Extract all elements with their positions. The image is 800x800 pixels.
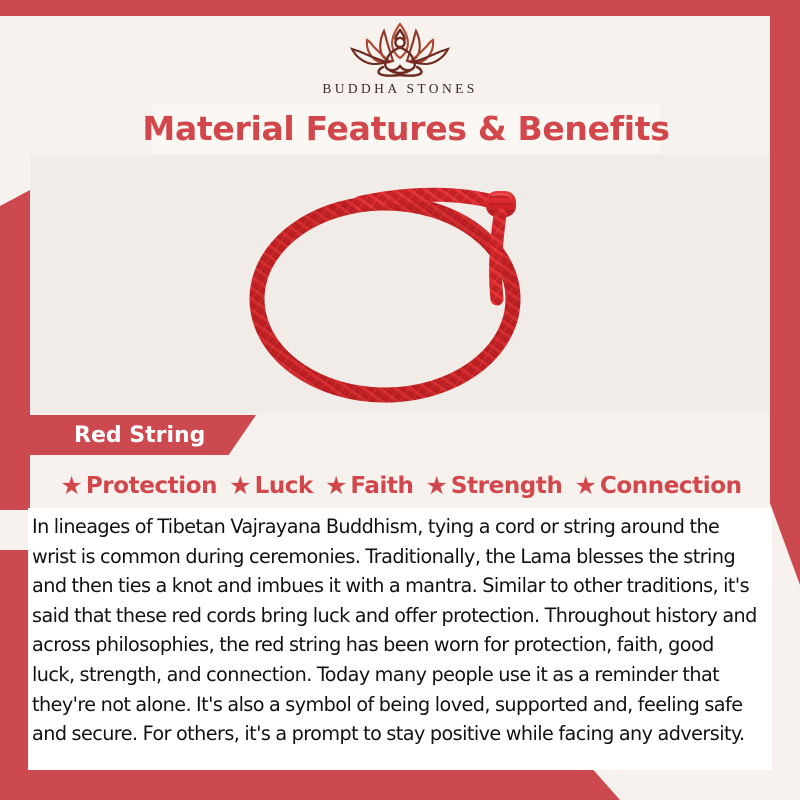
feature-item-connection: ★ Connection bbox=[574, 473, 741, 499]
infographic-page: BUDDHA STONES Material Features & Benefi… bbox=[0, 0, 800, 800]
feature-item-protection: ★ Protection bbox=[60, 473, 217, 499]
feature-label: Protection bbox=[86, 473, 217, 499]
feature-item-faith: ★ Faith bbox=[325, 473, 414, 499]
feature-item-strength: ★ Strength bbox=[426, 473, 563, 499]
feature-label: Connection bbox=[600, 473, 742, 499]
star-icon: ★ bbox=[325, 474, 347, 499]
description-panel: In lineages of Tibetan Vajrayana Buddhis… bbox=[28, 508, 772, 770]
product-image-stage bbox=[30, 155, 770, 413]
feature-label: Faith bbox=[350, 473, 413, 499]
star-icon: ★ bbox=[574, 474, 596, 499]
brand-logo: BUDDHA STONES bbox=[0, 16, 800, 104]
description-text: In lineages of Tibetan Vajrayana Buddhis… bbox=[32, 512, 758, 749]
brand-wordmark: BUDDHA STONES bbox=[322, 81, 477, 97]
star-icon: ★ bbox=[426, 474, 448, 499]
star-icon: ★ bbox=[229, 474, 251, 499]
red-string-bracelet-illustration bbox=[210, 155, 610, 413]
star-icon: ★ bbox=[60, 474, 82, 499]
material-name-label: Red String bbox=[74, 423, 205, 448]
feature-label: Strength bbox=[451, 473, 563, 499]
left-accent-bar-upper bbox=[0, 190, 30, 510]
material-name-ribbon: Red String bbox=[28, 415, 256, 455]
feature-label: Luck bbox=[255, 473, 313, 499]
feature-list: ★ Protection ★ Luck ★ Faith ★ Strength ★… bbox=[30, 466, 772, 506]
page-title: Material Features & Benefits bbox=[142, 109, 669, 148]
feature-item-luck: ★ Luck bbox=[229, 473, 313, 499]
title-banner: Material Features & Benefits bbox=[152, 103, 660, 153]
top-accent-strip bbox=[0, 0, 800, 16]
lotus-meditation-icon bbox=[334, 18, 466, 80]
